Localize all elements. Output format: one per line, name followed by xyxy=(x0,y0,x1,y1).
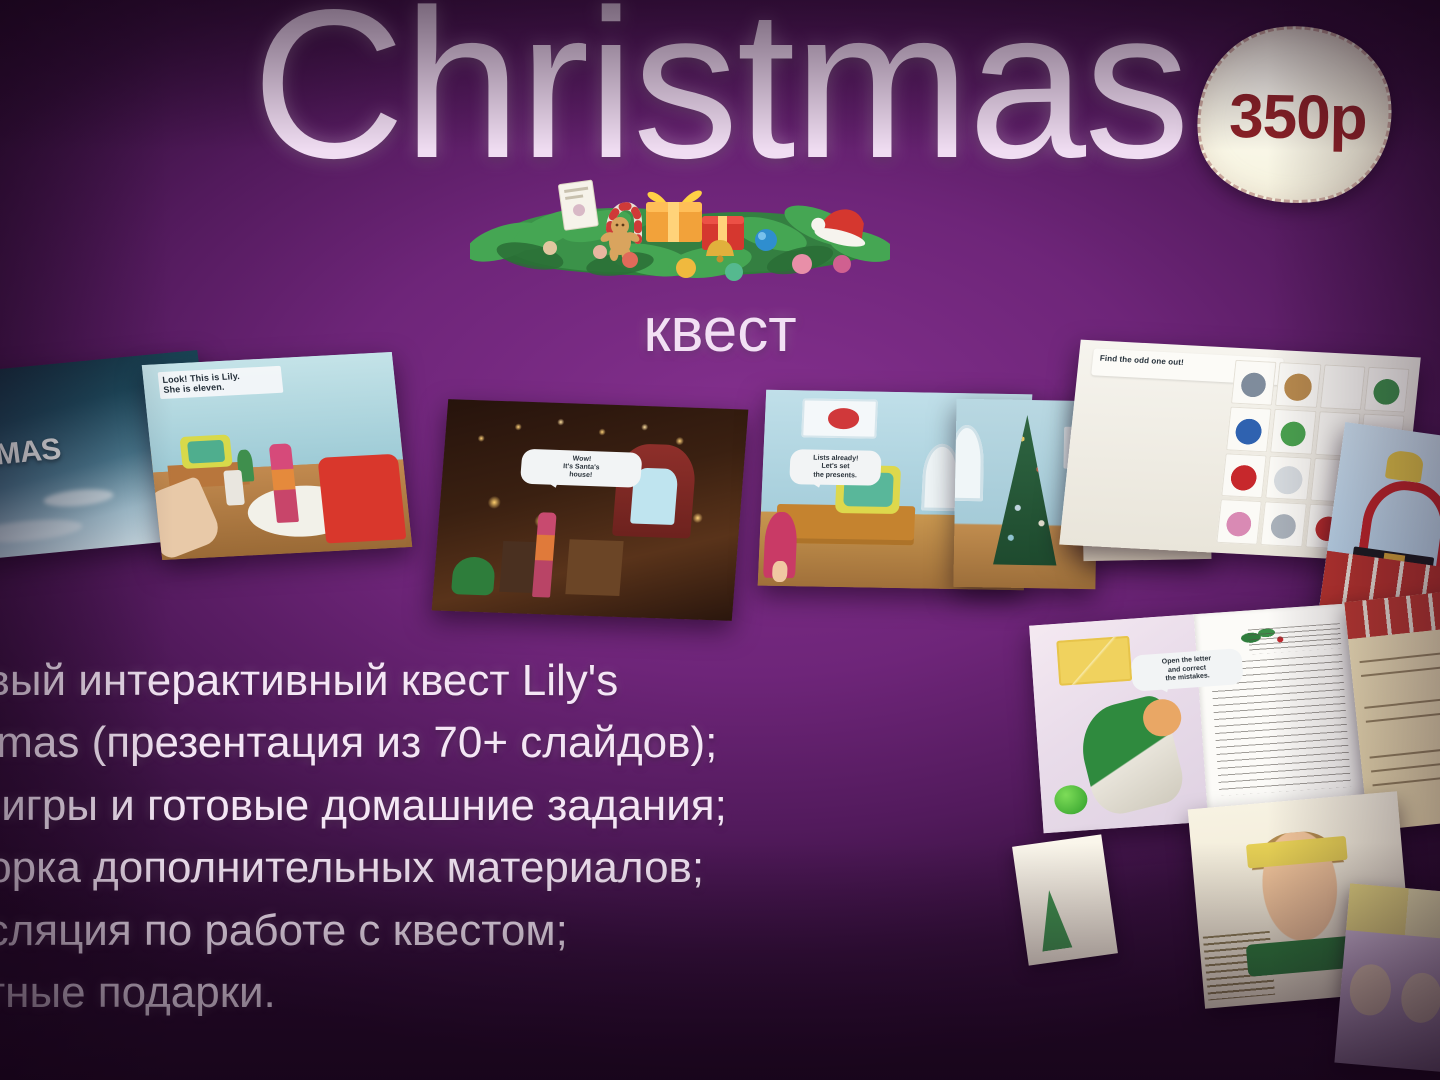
christmas-garland-icon xyxy=(470,168,890,298)
feature-line: овый интерактивный квест Lily's xyxy=(0,650,972,712)
body-copy: овый интерактивный квест Lily's stmas (п… xyxy=(0,650,972,1025)
price-badge-label: 350p xyxy=(1198,26,1397,207)
feature-line: и-игры и готовые домашние задания; xyxy=(0,775,972,837)
feature-line: борка дополнительных материалов; xyxy=(0,837,972,899)
worksheet-small-tree-card[interactable] xyxy=(1012,834,1118,965)
brick-border xyxy=(1344,591,1440,639)
text-line xyxy=(1371,761,1440,773)
text-line xyxy=(1366,711,1440,723)
feature-line: stmas (презентация из 70+ слайдов); xyxy=(0,712,972,774)
worksheet-kids-photo-card[interactable] xyxy=(1334,883,1440,1073)
feature-line: етные подарки. xyxy=(0,962,972,1024)
child-face xyxy=(1400,971,1440,1025)
page-subtitle: квест xyxy=(0,300,1440,362)
christmas-tree-icon xyxy=(1031,888,1075,952)
envelope-icon xyxy=(1057,635,1133,686)
text-line xyxy=(1361,665,1440,677)
child-face xyxy=(1348,963,1392,1017)
text-line xyxy=(1359,651,1440,663)
text-line xyxy=(1364,697,1440,709)
feature-line: исляция по работе с квестом; xyxy=(0,900,972,962)
poster-canvas: Christmas xyxy=(0,0,1440,1080)
feature-list: овый интерактивный квест Lily's stmas (п… xyxy=(0,650,972,1025)
card-top-strip xyxy=(1346,883,1440,940)
text-line xyxy=(1372,775,1440,787)
text-line xyxy=(1369,747,1440,759)
price-badge[interactable]: 350p xyxy=(1185,13,1404,217)
